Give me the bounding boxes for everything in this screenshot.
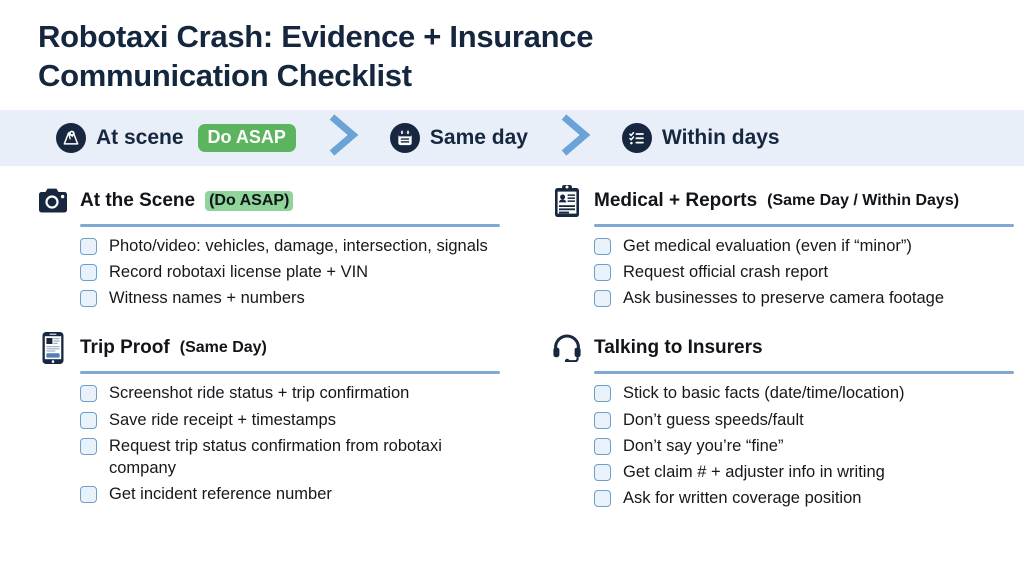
section-title: Medical + Reports: [594, 190, 757, 212]
list-item-label: Stick to basic facts (date/time/location…: [623, 382, 905, 404]
camera-icon: [36, 184, 70, 218]
list-item-label: Ask for written coverage position: [623, 487, 861, 509]
list-item[interactable]: Photo/video: vehicles, damage, intersect…: [80, 235, 488, 257]
list-item-label: Screenshot ride status + trip confirmati…: [109, 382, 409, 404]
section-header: At the Scene (Do ASAP): [36, 184, 488, 218]
list-item[interactable]: Screenshot ride status + trip confirmati…: [80, 382, 488, 404]
left-column: At the Scene (Do ASAP) Photo/video: vehi…: [0, 184, 512, 516]
section-divider: [80, 371, 500, 374]
checklist-columns: At the Scene (Do ASAP) Photo/video: vehi…: [0, 166, 1024, 516]
timeline-banner: At scene Do ASAP Same day: [0, 110, 1024, 166]
list-item-label: Don’t say you’re “fine”: [623, 435, 783, 457]
timeline-label: Within days: [662, 126, 780, 150]
section-trip-proof: Trip Proof (Same Day) Screenshot ride st…: [36, 331, 488, 505]
list-item[interactable]: Request official crash report: [594, 261, 1000, 283]
section-divider: [594, 371, 1014, 374]
list-item-label: Ask businesses to preserve camera footag…: [623, 287, 944, 309]
list-item-label: Get claim # + adjuster info in writing: [623, 461, 885, 483]
map-pin-icon: [56, 123, 86, 153]
chevron-right-icon: [558, 112, 592, 163]
list-item[interactable]: Get claim # + adjuster info in writing: [594, 461, 1000, 483]
section-title: At the Scene: [80, 190, 195, 212]
list-item[interactable]: Stick to basic facts (date/time/location…: [594, 382, 1000, 404]
section-at-the-scene: At the Scene (Do ASAP) Photo/video: vehi…: [36, 184, 488, 310]
checkbox[interactable]: [594, 464, 611, 481]
list-item[interactable]: Get incident reference number: [80, 483, 488, 505]
section-title: Talking to Insurers: [594, 337, 763, 359]
timeline-step-same-day: Same day: [390, 123, 528, 153]
list-item[interactable]: Get medical evaluation (even if “minor”): [594, 235, 1000, 257]
page-title: Robotaxi Crash: Evidence + Insurance Com…: [38, 18, 718, 96]
calendar-icon: [390, 123, 420, 153]
section-header: Trip Proof (Same Day): [36, 331, 488, 365]
list-item[interactable]: Ask businesses to preserve camera footag…: [594, 287, 1000, 309]
headset-icon: [550, 331, 584, 365]
timeline-step-within-days: Within days: [622, 123, 780, 153]
checkbox[interactable]: [594, 490, 611, 507]
list-item[interactable]: Witness names + numbers: [80, 287, 488, 309]
checkbox[interactable]: [80, 486, 97, 503]
list-item[interactable]: Don’t guess speeds/fault: [594, 409, 1000, 431]
section-header: Talking to Insurers: [550, 331, 1000, 365]
section-header: Medical + Reports (Same Day / Within Day…: [550, 184, 1000, 218]
checkbox[interactable]: [80, 264, 97, 281]
list-item-label: Witness names + numbers: [109, 287, 305, 309]
chevron-right-icon: [326, 112, 360, 163]
section-divider: [594, 224, 1014, 227]
list-item[interactable]: Request trip status confirmation from ro…: [80, 435, 488, 480]
title-block: Robotaxi Crash: Evidence + Insurance Com…: [0, 0, 1024, 96]
checkbox[interactable]: [80, 290, 97, 307]
section-talking-to-insurers: Talking to Insurers Stick to basic facts…: [550, 331, 1000, 509]
checklist-at-the-scene: Photo/video: vehicles, damage, intersect…: [80, 235, 488, 310]
list-item-label: Don’t guess speeds/fault: [623, 409, 804, 431]
checklist-talking-to-insurers: Stick to basic facts (date/time/location…: [594, 382, 1000, 509]
list-item[interactable]: Don’t say you’re “fine”: [594, 435, 1000, 457]
checkbox[interactable]: [594, 438, 611, 455]
section-subtitle: (Do ASAP): [205, 191, 293, 211]
checklist-medical-reports: Get medical evaluation (even if “minor”)…: [594, 235, 1000, 310]
checkbox[interactable]: [594, 412, 611, 429]
timeline-label: At scene: [96, 126, 184, 150]
section-divider: [80, 224, 500, 227]
checkbox[interactable]: [80, 438, 97, 455]
section-subtitle: (Same Day / Within Days): [767, 192, 959, 210]
checkbox[interactable]: [594, 264, 611, 281]
list-item-label: Record robotaxi license plate + VIN: [109, 261, 368, 283]
list-item[interactable]: Save ride receipt + timestamps: [80, 409, 488, 431]
checkbox[interactable]: [80, 412, 97, 429]
checkbox[interactable]: [594, 385, 611, 402]
timeline-step-at-scene: At scene Do ASAP: [56, 123, 296, 153]
checklist-icon: [622, 123, 652, 153]
list-item-label: Get incident reference number: [109, 483, 332, 505]
section-medical-reports: Medical + Reports (Same Day / Within Day…: [550, 184, 1000, 310]
infographic-page: Robotaxi Crash: Evidence + Insurance Com…: [0, 0, 1024, 572]
checkbox[interactable]: [594, 290, 611, 307]
list-item[interactable]: Ask for written coverage position: [594, 487, 1000, 509]
list-item-label: Request trip status confirmation from ro…: [109, 435, 488, 480]
list-item-label: Save ride receipt + timestamps: [109, 409, 336, 431]
list-item-label: Photo/video: vehicles, damage, intersect…: [109, 235, 488, 257]
checklist-trip-proof: Screenshot ride status + trip confirmati…: [80, 382, 488, 505]
smartphone-icon: [36, 331, 70, 365]
checkbox[interactable]: [594, 238, 611, 255]
checkbox[interactable]: [80, 238, 97, 255]
right-column: Medical + Reports (Same Day / Within Day…: [512, 184, 1024, 516]
list-item-label: Get medical evaluation (even if “minor”): [623, 235, 912, 257]
timeline-label: Same day: [430, 126, 528, 150]
section-title: Trip Proof: [80, 337, 170, 359]
checkbox[interactable]: [80, 385, 97, 402]
timeline-badge-do-asap: Do ASAP: [198, 124, 296, 152]
section-subtitle: (Same Day): [180, 339, 267, 357]
list-item-label: Request official crash report: [623, 261, 828, 283]
clipboard-medical-icon: [550, 184, 584, 218]
list-item[interactable]: Record robotaxi license plate + VIN: [80, 261, 488, 283]
